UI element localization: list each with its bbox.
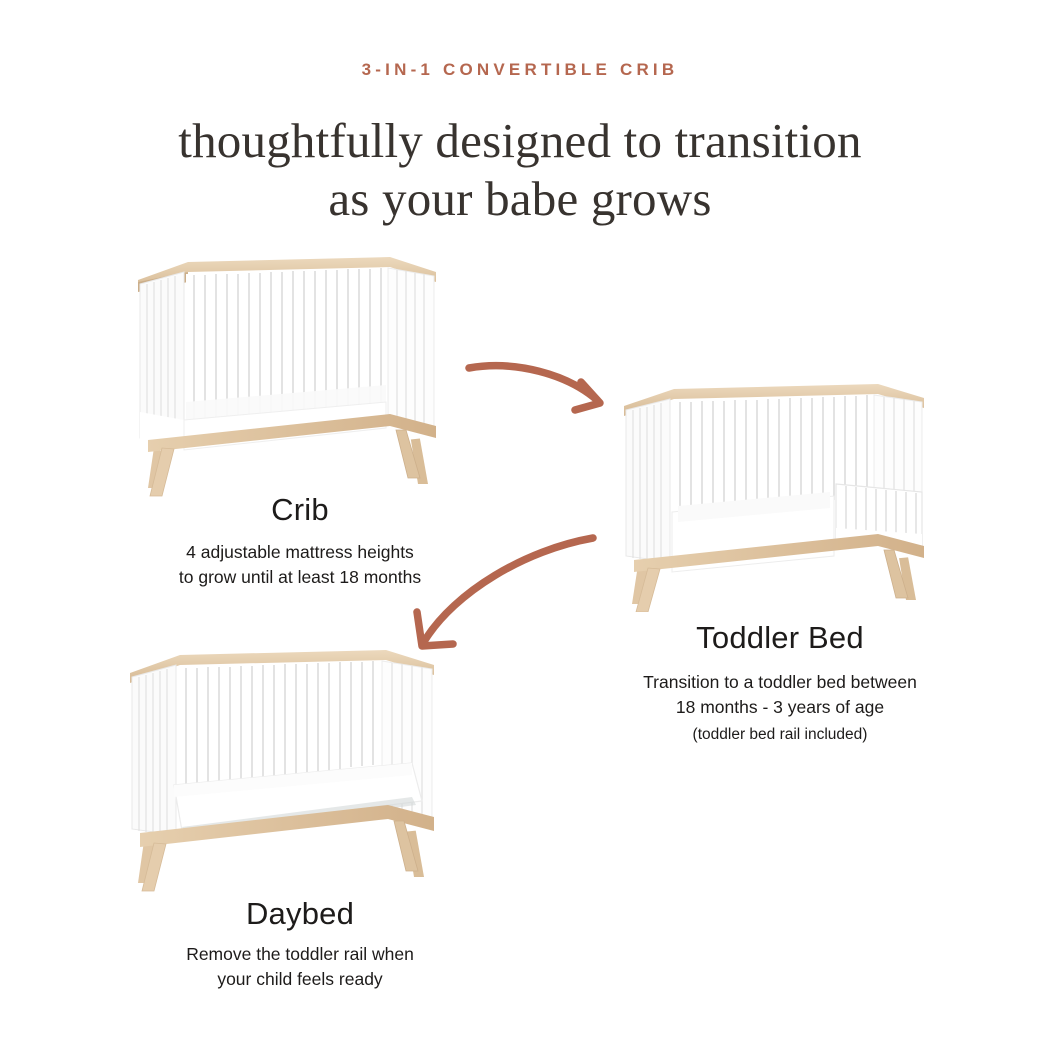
- daybed-label: Daybed: [85, 896, 515, 932]
- toddler-bed-description-line-2: 18 months - 3 years of age: [545, 695, 1015, 720]
- toddler-bed-description: Transition to a toddler bed between 18 m…: [545, 670, 1015, 747]
- curved-arrow-icon-crib-to-toddler: [455, 350, 625, 430]
- crib-description: 4 adjustable mattress heights to grow un…: [80, 540, 520, 590]
- headline-line-1: thoughtfully designed to transition: [0, 112, 1040, 170]
- toddler-bed-description-line-1: Transition to a toddler bed between: [545, 670, 1015, 695]
- page-title: thoughtfully designed to transition as y…: [0, 112, 1040, 228]
- crib-description-line-2: to grow until at least 18 months: [80, 565, 520, 590]
- infographic-canvas: 3-IN-1 CONVERTIBLE CRIB thoughtfully des…: [0, 0, 1040, 1040]
- crib-end-panel-right: [388, 268, 434, 430]
- toddler-bed-description-note: (toddler bed rail included): [545, 722, 1015, 747]
- crib-illustration: [118, 252, 454, 498]
- toddler-bed-label: Toddler Bed: [560, 620, 1000, 656]
- daybed-description-line-2: your child feels ready: [85, 967, 515, 992]
- toddler-bed-illustration: [610, 380, 940, 612]
- crib-label: Crib: [80, 492, 520, 528]
- daybed-description: Remove the toddler rail when your child …: [85, 942, 515, 992]
- daybed-description-line-1: Remove the toddler rail when: [85, 942, 515, 967]
- eyebrow-label: 3-IN-1 CONVERTIBLE CRIB: [0, 60, 1040, 80]
- crib-description-line-1: 4 adjustable mattress heights: [80, 540, 520, 565]
- headline-line-2: as your babe grows: [0, 170, 1040, 228]
- daybed-illustration: [112, 645, 452, 893]
